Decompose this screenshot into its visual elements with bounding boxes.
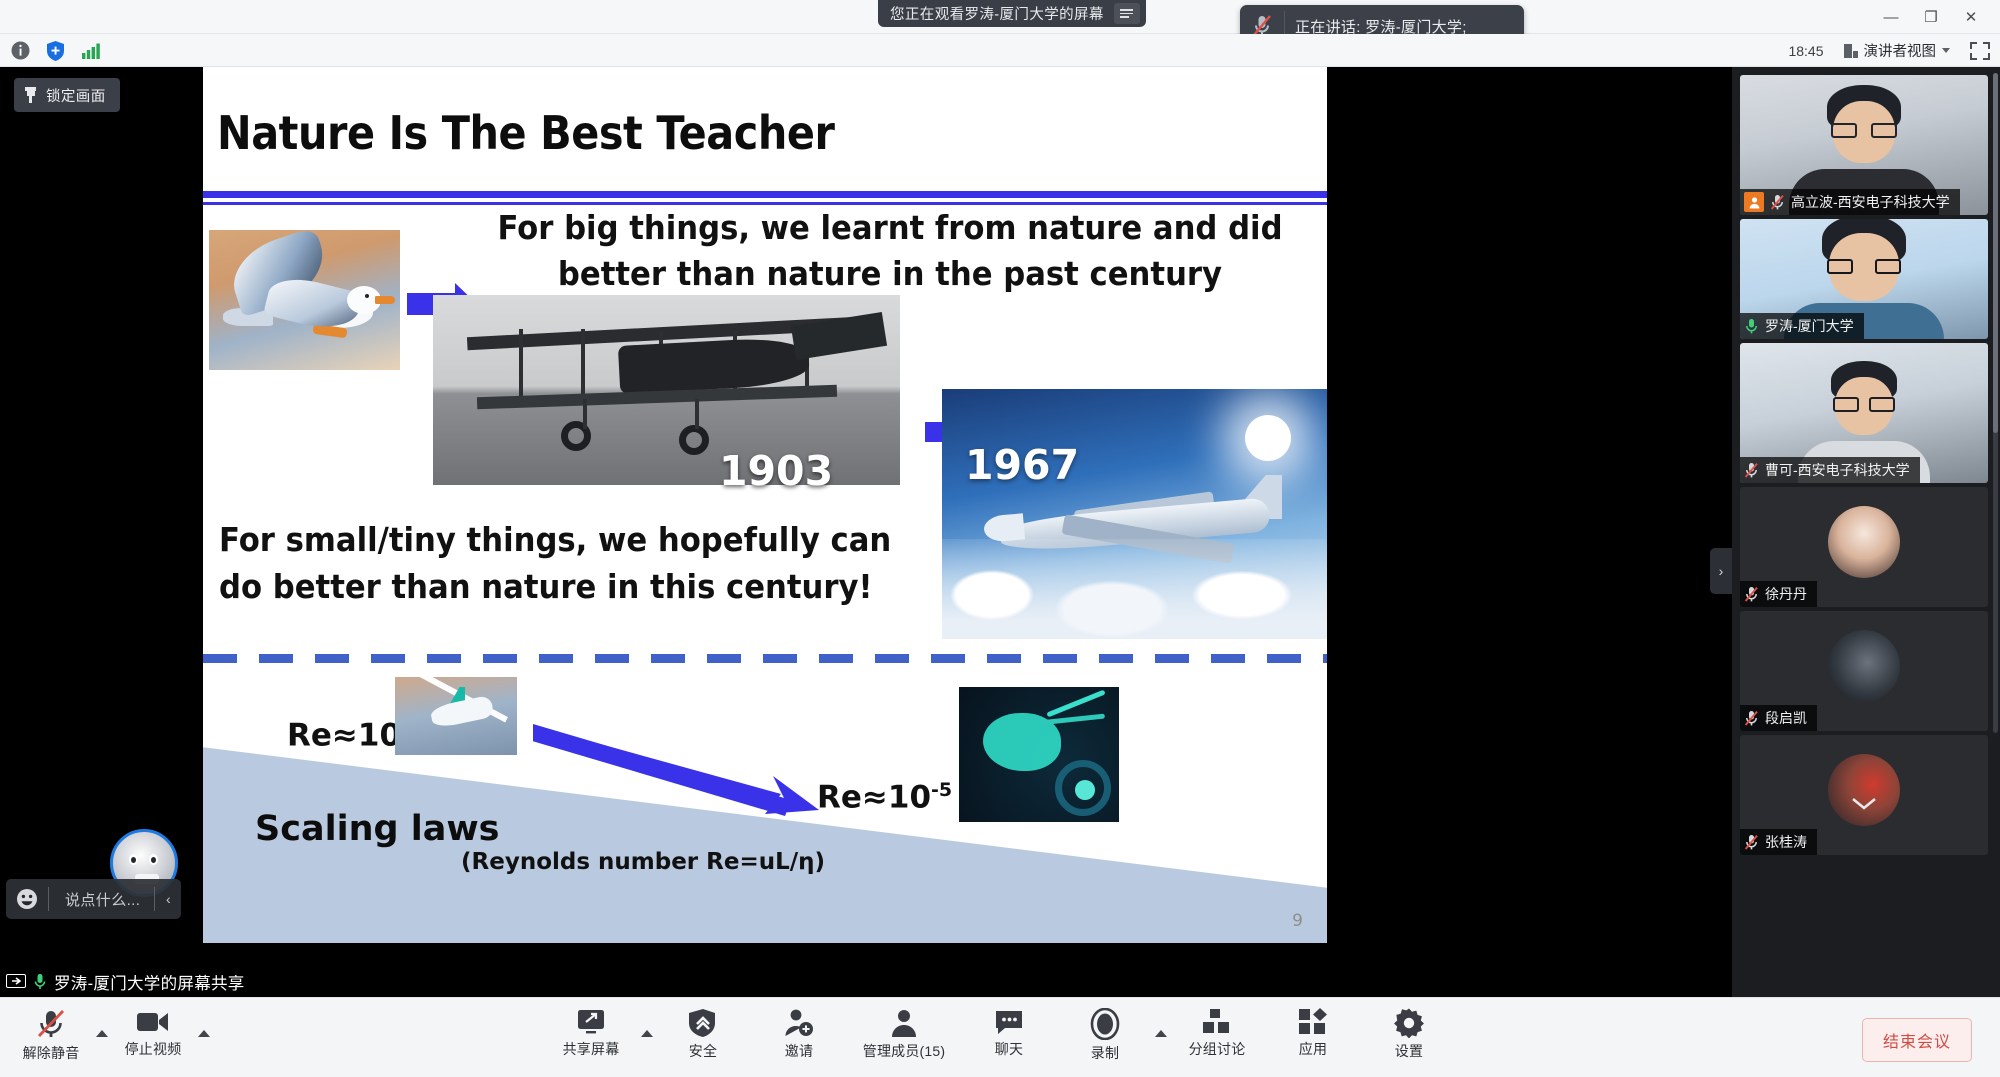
unmute-label: 解除静音 — [23, 1043, 80, 1063]
video-camera-icon — [136, 1008, 170, 1036]
year-1903-label: 1903 — [719, 447, 833, 495]
record-icon — [1090, 1008, 1120, 1040]
chevron-down-icon — [1942, 48, 1950, 53]
lock-screen-button[interactable]: 锁定画面 — [14, 78, 120, 112]
chat-label: 聊天 — [995, 1039, 1023, 1059]
breakout-rooms-icon — [1202, 1008, 1232, 1036]
minimize-button[interactable]: — — [1872, 2, 1910, 32]
mic-muted-icon — [1744, 462, 1759, 479]
security-button[interactable]: 安全 — [657, 1004, 749, 1061]
participant-filmstrip: 高立波-西安电子科技大学 罗涛-厦门大学 — [1732, 67, 2000, 997]
mic-muted-icon — [1744, 710, 1759, 727]
avatar — [1828, 630, 1900, 702]
close-button[interactable]: ✕ — [1952, 2, 1990, 32]
share-screen-label: 共享屏幕 — [563, 1039, 620, 1059]
lock-screen-label: 锁定画面 — [46, 85, 106, 106]
filmstrip-scrollbar[interactable] — [1993, 73, 1998, 733]
share-screen-button[interactable]: 共享屏幕 — [545, 1004, 637, 1059]
participant-namebar: 曹可-西安电子科技大学 — [1740, 457, 1920, 483]
audio-options-chevron[interactable] — [96, 1030, 108, 1037]
slide-dashed-divider — [203, 654, 1327, 663]
speaker-view-icon — [1844, 44, 1858, 58]
meeting-toolbar: 解除静音 停止视频 共享屏幕 — [0, 997, 2000, 1077]
slide-lead-text: For big things, we learnt from nature an… — [495, 205, 1286, 297]
participant-tile-4[interactable]: 段启凯 — [1740, 611, 1988, 731]
slide-page-number: 9 — [1292, 911, 1303, 931]
manage-participants-label: 管理成员(15) — [863, 1041, 946, 1061]
hamburger-lines-icon — [1120, 7, 1133, 21]
manage-participants-button[interactable]: 管理成员(15) — [849, 1004, 959, 1061]
share-screen-icon — [575, 1008, 607, 1036]
chevron-down-icon — [1851, 797, 1877, 811]
participant-name: 罗涛-厦门大学 — [1765, 316, 1854, 336]
zoom-meeting-window: 您正在观看罗涛-厦门大学的屏幕 正在讲话: 罗涛-厦门大学; — ❐ ✕ — [0, 0, 2000, 1077]
meeting-clock: 18:45 — [1788, 43, 1823, 59]
watching-screen-label: 您正在观看罗涛-厦门大学的屏幕 — [890, 3, 1104, 24]
meeting-info-bar: 18:45 演讲者视图 — [0, 34, 2000, 67]
screen-share-owner-tag: 罗涛-厦门大学的屏幕共享 — [0, 966, 257, 997]
chat-button[interactable]: 聊天 — [963, 1004, 1055, 1059]
emoji-icon[interactable] — [6, 888, 48, 910]
stage-chat-bar[interactable]: 说点什么... ‹ — [6, 879, 181, 919]
avatar — [1828, 754, 1900, 826]
window-controls: — ❐ ✕ — [1872, 0, 1990, 34]
avatar — [1828, 506, 1900, 578]
share-screen-small-icon — [6, 974, 26, 990]
meeting-info-icon[interactable] — [8, 39, 32, 63]
year-1967-label: 1967 — [965, 441, 1079, 489]
small-jet-photo — [395, 677, 517, 755]
participant-tile-0[interactable]: 高立波-西安电子科技大学 — [1740, 75, 1988, 215]
title-bar: 您正在观看罗涛-厦门大学的屏幕 正在讲话: 罗涛-厦门大学; — ❐ ✕ — [0, 0, 2000, 34]
jetliner-photo: 1967 — [942, 389, 1327, 639]
record-label: 录制 — [1091, 1043, 1119, 1063]
participant-tile-2[interactable]: 曹可-西安电子科技大学 — [1740, 343, 1988, 483]
chat-bubble-icon — [994, 1008, 1024, 1036]
participant-namebar: 徐丹丹 — [1740, 581, 1817, 607]
mic-muted-icon — [35, 1008, 67, 1040]
view-mode-label: 演讲者视图 — [1864, 40, 1937, 61]
slide-title: Nature Is The Best Teacher — [217, 106, 834, 160]
participant-namebar: 罗涛-厦门大学 — [1740, 313, 1864, 339]
participant-name: 曹可-西安电子科技大学 — [1765, 460, 1910, 480]
watching-screen-banner[interactable]: 您正在观看罗涛-厦门大学的屏幕 — [878, 0, 1146, 27]
slide-lead-text-2: For small/tiny things, we hopefully can … — [219, 517, 907, 611]
shared-screen-stage: 锁定画面 Nature Is The Best Teacher For big … — [0, 67, 1732, 997]
video-options-chevron[interactable] — [198, 1030, 210, 1037]
scaling-laws-label: Scaling laws — [255, 809, 500, 849]
screen-share-owner-label: 罗涛-厦门大学的屏幕共享 — [54, 970, 245, 994]
apps-button[interactable]: 应用 — [1267, 1004, 1359, 1059]
invite-button[interactable]: 邀请 — [753, 1004, 845, 1061]
encryption-shield-icon[interactable] — [43, 39, 67, 63]
re-high-text: Re≈10 — [287, 717, 401, 753]
settings-button[interactable]: 设置 — [1363, 1004, 1455, 1061]
presentation-slide: Nature Is The Best Teacher For big thing… — [203, 67, 1327, 943]
unmute-button[interactable]: 解除静音 — [12, 1004, 90, 1063]
reynolds-low-label: Re≈10-5 — [817, 779, 952, 815]
participant-namebar: 段启凯 — [1740, 705, 1817, 731]
re-low-text: Re≈10 — [817, 779, 931, 815]
maximize-button[interactable]: ❐ — [1912, 2, 1950, 32]
participant-name: 高立波-西安电子科技大学 — [1791, 192, 1950, 212]
av-controls: 解除静音 停止视频 — [12, 1004, 210, 1063]
record-button[interactable]: 录制 — [1059, 1004, 1151, 1063]
apps-icon — [1298, 1008, 1328, 1036]
participant-name: 徐丹丹 — [1765, 584, 1807, 604]
mic-small-icon — [33, 973, 47, 990]
arrow-scaling-down — [533, 722, 823, 818]
security-label: 安全 — [689, 1041, 717, 1061]
participants-icon — [890, 1008, 918, 1038]
view-mode-button[interactable]: 演讲者视图 — [1838, 37, 1957, 64]
participant-tile-3[interactable]: 徐丹丹 — [1740, 487, 1988, 607]
re-low-exponent: -5 — [931, 779, 952, 801]
expand-filmstrip-handle[interactable]: › — [1710, 548, 1732, 594]
participant-tile-5[interactable]: 张桂涛 — [1740, 735, 1988, 855]
network-quality-icon[interactable] — [78, 39, 102, 63]
stop-video-label: 停止视频 — [125, 1039, 182, 1059]
participant-namebar: 张桂涛 — [1740, 829, 1817, 855]
mic-active-icon — [1744, 318, 1759, 335]
breakout-rooms-button[interactable]: 分组讨论 — [1171, 1004, 1263, 1059]
share-options-chevron[interactable] — [641, 1030, 653, 1037]
settings-label: 设置 — [1395, 1041, 1423, 1061]
pin-icon — [24, 87, 37, 103]
invite-label: 邀请 — [785, 1041, 813, 1061]
view-controls: 18:45 演讲者视图 — [1788, 34, 1990, 67]
host-badge-icon — [1744, 192, 1764, 212]
banner-menu-icon[interactable] — [1114, 3, 1140, 24]
stage-chat-input[interactable]: 说点什么... — [49, 889, 154, 910]
stop-video-button[interactable]: 停止视频 — [114, 1004, 192, 1059]
mic-muted-icon — [1770, 194, 1785, 211]
seagull-photo — [209, 230, 400, 370]
participant-namebar: 高立波-西安电子科技大学 — [1740, 189, 1960, 215]
invite-person-icon — [784, 1008, 814, 1038]
record-options-chevron[interactable] — [1155, 1030, 1167, 1037]
participant-name: 段启凯 — [1765, 708, 1807, 728]
fullscreen-icon[interactable] — [1970, 42, 1990, 60]
microbe-photo — [959, 687, 1119, 822]
security-shield-icon — [689, 1008, 717, 1038]
meeting-status-icons — [8, 34, 102, 67]
collapse-chat-icon[interactable]: ‹ — [155, 891, 181, 907]
participant-tile-1[interactable]: 罗涛-厦门大学 — [1740, 219, 1988, 339]
settings-gear-icon — [1394, 1008, 1424, 1038]
mic-muted-icon — [1744, 834, 1759, 851]
reynolds-number-note: (Reynolds number Re=uL/η) — [461, 849, 825, 875]
participant-name: 张桂涛 — [1765, 832, 1807, 852]
end-meeting-button[interactable]: 结束会议 — [1862, 1018, 1972, 1062]
mic-muted-icon — [1744, 586, 1759, 603]
apps-label: 应用 — [1299, 1039, 1327, 1059]
slide-divider-rule — [203, 191, 1327, 205]
meeting-actions: 共享屏幕 安全 邀请 — [545, 1004, 1455, 1063]
breakout-rooms-label: 分组讨论 — [1189, 1039, 1246, 1059]
